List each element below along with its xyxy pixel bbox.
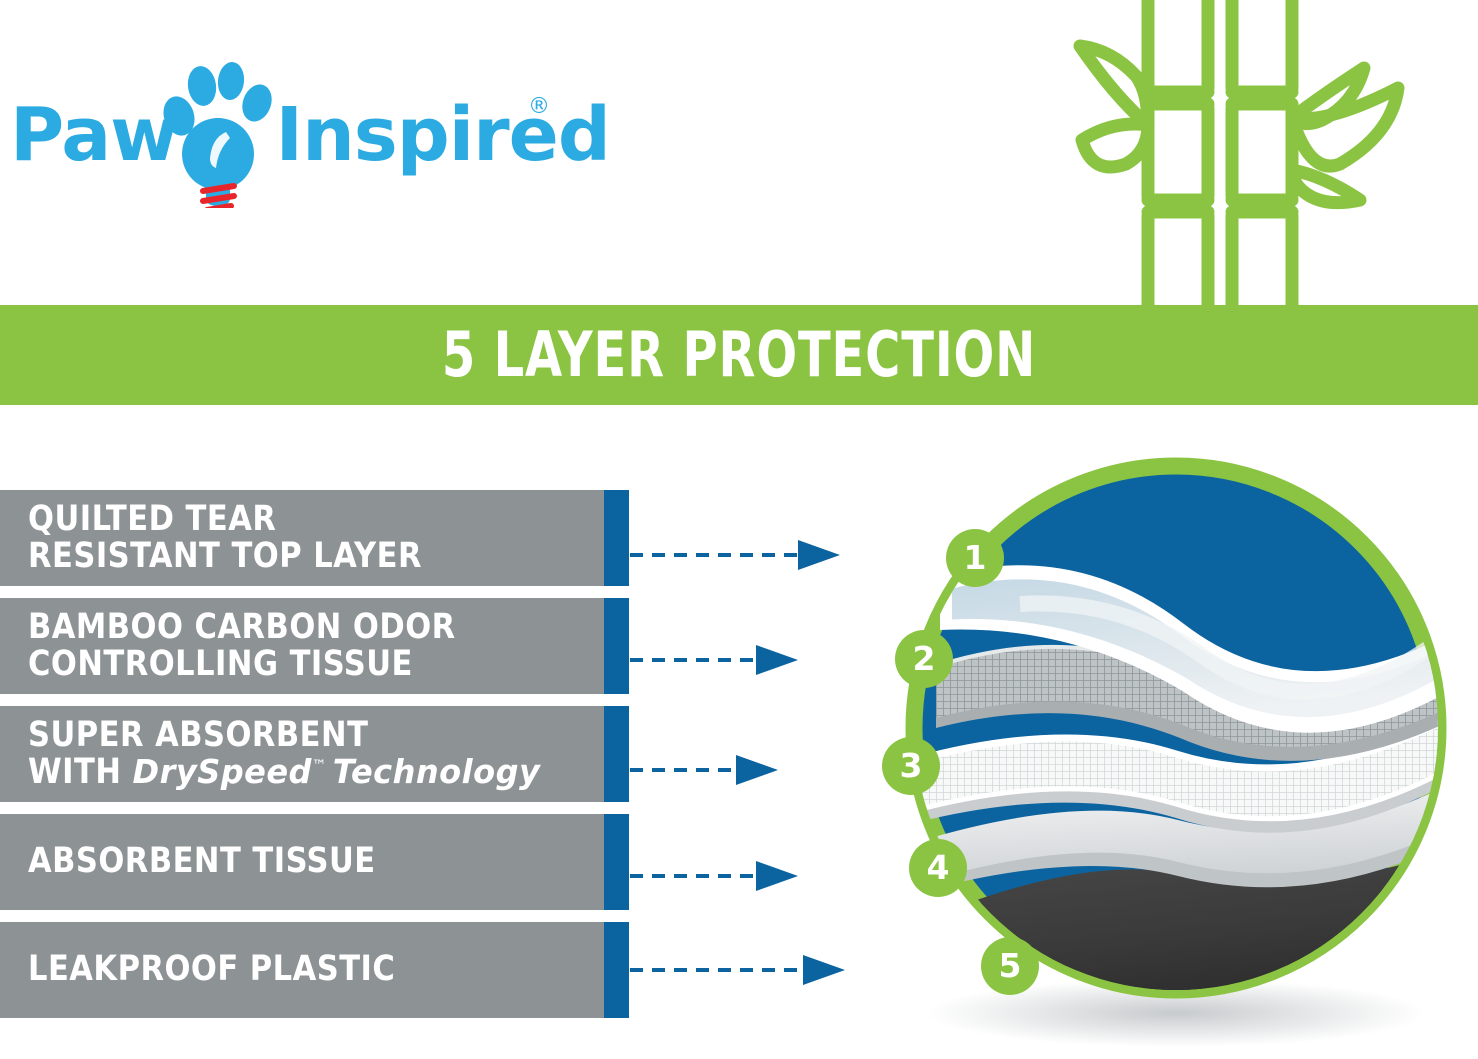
- layer-badge-number-2: 2: [896, 631, 952, 687]
- layer-label-accent: [604, 598, 629, 694]
- brand-wordmark-inspired: Inspired: [276, 92, 610, 178]
- layer-label-text-1: QUILTED TEAR RESISTANT TOP LAYER: [28, 490, 588, 586]
- paw-print-with-lightbulb-icon: [162, 58, 282, 208]
- bamboo-stalks-icon: [1020, 0, 1440, 312]
- trademark-suffix: Technology: [333, 752, 541, 791]
- connector-arrow-2: [630, 645, 798, 675]
- layer-badge-number-1: 1: [947, 530, 1003, 586]
- layer-label-accent: [604, 706, 629, 802]
- connector-arrow-4: [630, 861, 798, 891]
- layer-badge-number-5: 5: [982, 938, 1038, 994]
- layer-badge-number-4: 4: [910, 840, 966, 896]
- layer-label-line: ABSORBENT TISSUE: [28, 843, 571, 880]
- layer-label-line: CONTROLLING TISSUE: [28, 646, 571, 683]
- layer-label-accent: [604, 922, 629, 1018]
- layer-label-line: LEAKPROOF PLASTIC: [28, 951, 571, 988]
- banner-title: 5 LAYER PROTECTION: [103, 305, 1374, 405]
- layer-label-text-4: ABSORBENT TISSUE: [28, 814, 588, 910]
- layer-label-line: RESISTANT TOP LAYER: [28, 538, 571, 575]
- brand-wordmark: PawInspired: [10, 92, 610, 178]
- connector-arrow-5: [630, 955, 845, 985]
- brand-wordmark-paw: Paw: [10, 92, 178, 178]
- trademark-name: DrySpeed: [133, 752, 312, 791]
- layer-label-text-5: LEAKPROOF PLASTIC: [28, 922, 588, 1018]
- layer-label-line: SUPER ABSORBENT: [28, 717, 571, 754]
- registered-trademark-symbol: ®: [528, 94, 550, 119]
- infographic-root: PawInspired ®: [0, 0, 1478, 1059]
- layer-label-text-2: BAMBOO CARBON ODOR CONTROLLING TISSUE: [28, 598, 588, 694]
- section-banner: 5 LAYER PROTECTION: [0, 305, 1478, 405]
- layer-label-line: QUILTED TEAR: [28, 501, 571, 538]
- connector-arrow-3: [630, 755, 778, 785]
- layer-label-text-3: SUPER ABSORBENT WITH DrySpeed™Technology: [28, 706, 588, 802]
- brand-logo: PawInspired ®: [10, 58, 570, 208]
- layer-label-accent: [604, 814, 629, 910]
- layer-label-accent: [604, 490, 629, 586]
- five-layer-stack-diagram: [880, 428, 1478, 1056]
- connector-arrow-1: [630, 540, 840, 570]
- layer-label-line-prefix: WITH: [28, 752, 133, 792]
- layer-badge-number-3: 3: [883, 738, 939, 794]
- layer-label-line-trademark: WITH DrySpeed™Technology: [28, 754, 571, 791]
- layer-label-line: BAMBOO CARBON ODOR: [28, 609, 571, 646]
- trademark-symbol: ™: [312, 756, 327, 774]
